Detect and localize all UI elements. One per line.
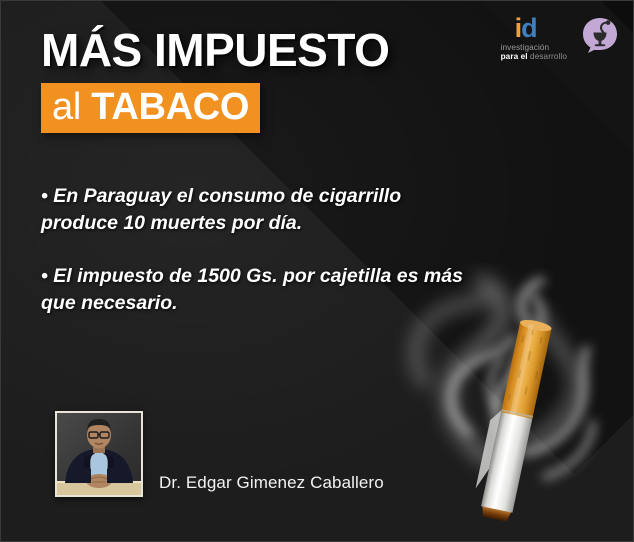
- speaker-credit: Dr. Edgar Gimenez Caballero: [55, 411, 384, 497]
- headline-line-2-heavy: TABACO: [91, 86, 249, 128]
- logo-group: id investigación para el desarrollo: [501, 15, 619, 61]
- id-logo-subtitle-line2: para el desarrollo: [501, 53, 567, 61]
- id-logo-subtitle-bold: para el: [501, 52, 530, 61]
- bullet-item: • El impuesto de 1500 Gs. por cajetilla …: [41, 263, 471, 317]
- bullet-item: • En Paraguay el consumo de cigarrillo p…: [41, 183, 471, 237]
- headline-line-2: al TABACO: [52, 88, 249, 126]
- speaker-name: Dr. Edgar Gimenez Caballero: [159, 473, 384, 497]
- tobacco-tax-poster: id investigación para el desarrollo MÁS …: [0, 0, 634, 542]
- bullet-list: • En Paraguay el consumo de cigarrillo p…: [41, 183, 471, 343]
- portrait-photo: [55, 411, 143, 497]
- id-logo-mark: id: [515, 15, 537, 42]
- headline-line-2-light: al: [52, 86, 91, 128]
- headline-block: MÁS IMPUESTO al TABACO: [41, 27, 389, 133]
- id-logo: id investigación para el desarrollo: [501, 15, 567, 61]
- id-logo-subtitle-line1: investigación: [501, 44, 550, 52]
- bowl-of-hygieia-icon: [581, 16, 619, 54]
- headline-line-1: MÁS IMPUESTO: [41, 27, 389, 73]
- headline-highlight-box: al TABACO: [41, 83, 260, 133]
- id-logo-letter-d: d: [521, 13, 537, 43]
- id-logo-subtitle-light: desarrollo: [530, 52, 567, 61]
